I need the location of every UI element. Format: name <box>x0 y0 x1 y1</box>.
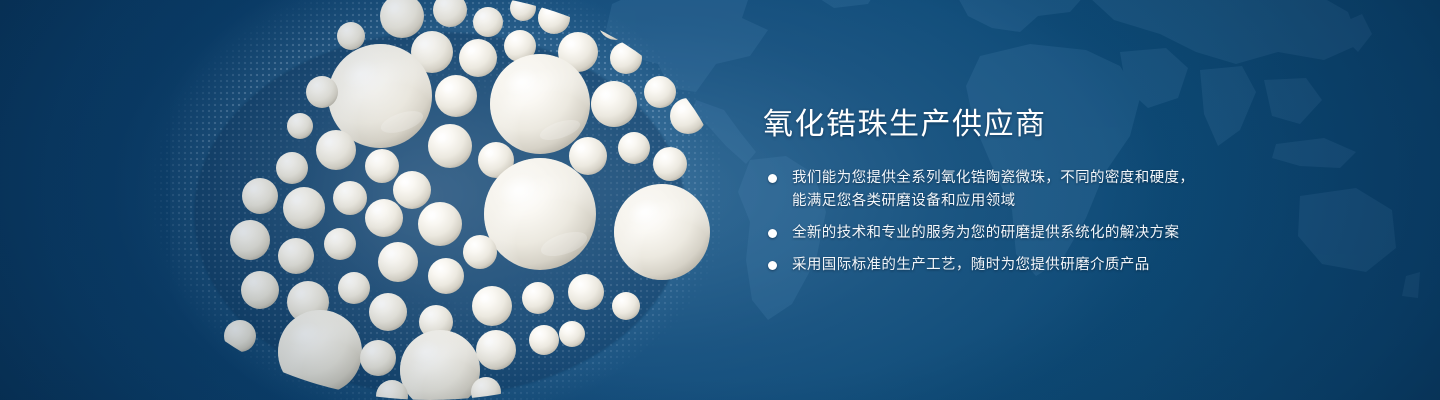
list-item-line: 全新的技术和专业的服务为您的研磨提供系统化的解决方案 <box>792 222 1363 245</box>
banner-copy: 氧化锆珠生产供应商 我们能为您提供全系列氧化锆陶瓷微珠，不同的密度和硬度， 能满… <box>763 105 1363 277</box>
list-item-line: 采用国际标准的生产工艺，随时为您提供研磨介质产品 <box>792 254 1363 277</box>
list-item-line: 能满足您各类研磨设备和应用领域 <box>792 190 1363 213</box>
bullet-dot-icon <box>768 229 777 238</box>
bullet-dot-icon <box>768 261 777 270</box>
list-item-line: 我们能为您提供全系列氧化锆陶瓷微珠，不同的密度和硬度， <box>792 167 1363 190</box>
list-item: 采用国际标准的生产工艺，随时为您提供研磨介质产品 <box>763 254 1363 277</box>
list-item: 我们能为您提供全系列氧化锆陶瓷微珠，不同的密度和硬度， 能满足您各类研磨设备和应… <box>763 167 1363 213</box>
bullet-dot-icon <box>768 174 777 183</box>
page-title: 氧化锆珠生产供应商 <box>763 105 1363 145</box>
feature-list: 我们能为您提供全系列氧化锆陶瓷微珠，不同的密度和硬度， 能满足您各类研磨设备和应… <box>763 167 1363 277</box>
hero-banner: 氧化锆珠生产供应商 我们能为您提供全系列氧化锆陶瓷微珠，不同的密度和硬度， 能满… <box>0 0 1440 400</box>
list-item: 全新的技术和专业的服务为您的研磨提供系统化的解决方案 <box>763 222 1363 245</box>
